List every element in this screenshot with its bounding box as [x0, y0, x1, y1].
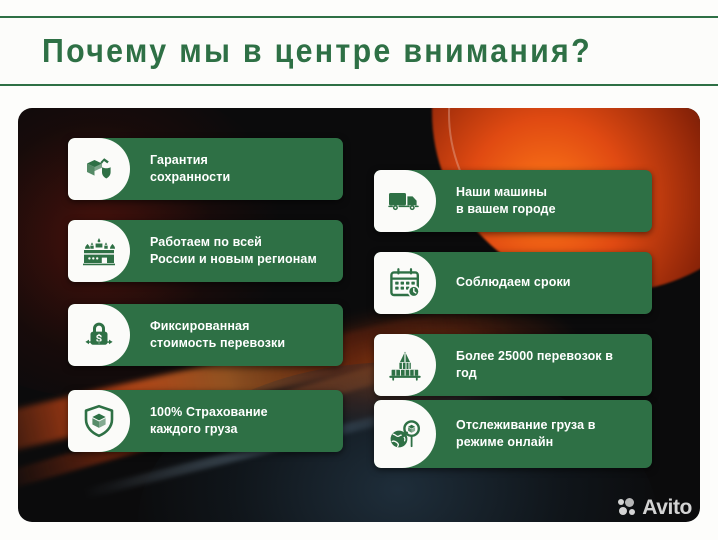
- lock-dollar-icon: [68, 304, 130, 366]
- feature-card-fixed-price[interactable]: Фиксированная стоимость перевозки: [68, 304, 343, 366]
- avito-logo-icon: [618, 498, 638, 518]
- truck-icon: [374, 170, 436, 232]
- feature-label: Более 25000 перевозок в год: [438, 334, 652, 396]
- feature-label: Соблюдаем сроки: [438, 252, 652, 314]
- page-title: Почему мы в центре внимания?: [42, 32, 592, 70]
- feature-label: Работаем по всей России и новым регионам: [132, 220, 343, 282]
- feature-label: Гарантия сохранности: [132, 138, 343, 200]
- globe-tracking-icon: [374, 400, 436, 468]
- shield-cube-icon: [68, 390, 130, 452]
- feature-label: Наши машины в вашем городе: [438, 170, 652, 232]
- feature-card-volume[interactable]: Более 25000 перевозок в год: [374, 334, 652, 396]
- kremlin-icon: [68, 220, 130, 282]
- feature-card-insurance[interactable]: 100% Страхование каждого груза: [68, 390, 343, 452]
- avito-brand-text: Avito: [642, 497, 692, 518]
- features-panel: Гарантия сохранности: [18, 108, 700, 522]
- feature-card-guarantee[interactable]: Гарантия сохранности: [68, 138, 343, 200]
- header-bar: Почему мы в центре внимания?: [0, 16, 718, 86]
- feature-label: Фиксированная стоимость перевозки: [132, 304, 343, 366]
- feature-card-deadlines[interactable]: Соблюдаем сроки: [374, 252, 652, 314]
- calendar-clock-icon: [374, 252, 436, 314]
- feature-card-coverage[interactable]: Работаем по всей России и новым регионам: [68, 220, 343, 282]
- avito-watermark: Avito: [618, 497, 692, 518]
- feature-label: Отслеживание груза в режиме онлайн: [438, 400, 652, 468]
- feature-card-tracking[interactable]: Отслеживание груза в режиме онлайн: [374, 400, 652, 468]
- feature-card-fleet[interactable]: Наши машины в вашем городе: [374, 170, 652, 232]
- feature-label: 100% Страхование каждого груза: [132, 390, 343, 452]
- promo-banner: Почему мы в центре внимания? Гарантия со…: [0, 0, 718, 540]
- crane-cargo-icon: [374, 334, 436, 396]
- package-shield-icon: [68, 138, 130, 200]
